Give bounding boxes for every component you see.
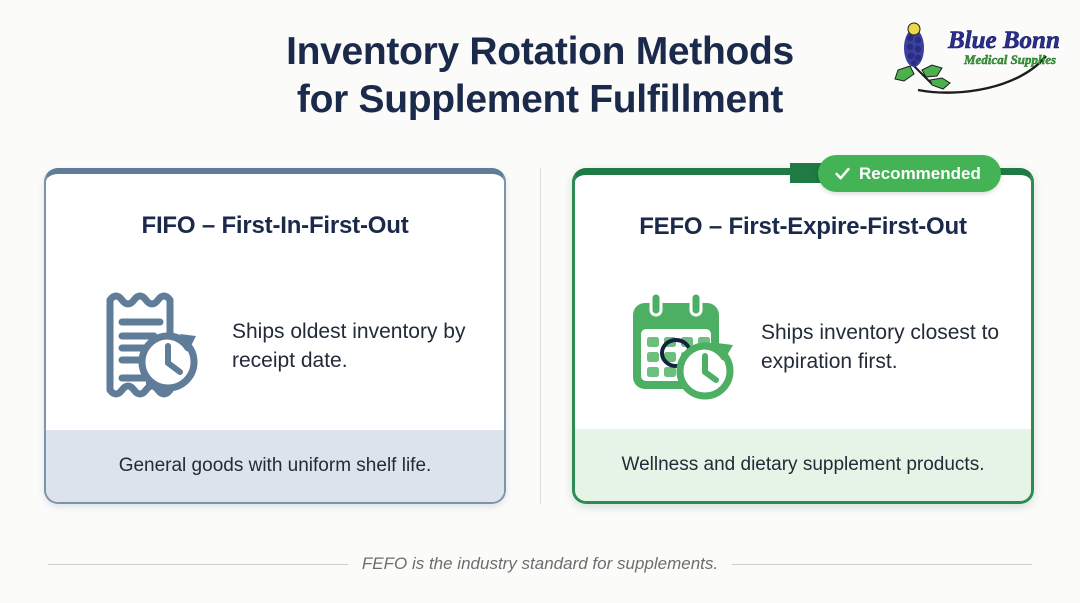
card-fifo-body: Ships oldest inventory by receipt date.	[46, 266, 504, 426]
card-fifo-title: FIFO – First-In-First-Out	[46, 212, 504, 240]
footnote-rule-left	[48, 564, 348, 565]
card-fefo-description: Ships inventory closest to expiration fi…	[761, 318, 1031, 376]
card-fefo-body: Ships inventory closest to expiration fi…	[575, 267, 1031, 427]
brand-logo: Blue Bonnet Medical Supplies	[880, 18, 1060, 98]
check-icon	[834, 165, 851, 182]
page-title-line-1: Inventory Rotation Methods	[120, 28, 960, 76]
brand-name-text: Blue Bonnet	[947, 27, 1060, 54]
recommended-badge-label: Recommended	[859, 164, 981, 184]
page-title-line-2: for Supplement Fulfillment	[120, 76, 960, 124]
card-fefo-footer: Wellness and dietary supplement products…	[575, 429, 1031, 501]
receipt-clock-icon	[92, 286, 210, 406]
card-fefo-title: FEFO – First-Expire-First-Out	[575, 213, 1031, 241]
brand-logo-graphic: Blue Bonnet Medical Supplies	[880, 18, 1060, 98]
card-divider	[540, 168, 541, 504]
recommended-badge[interactable]: Recommended	[818, 155, 1001, 192]
card-fifo-footer: General goods with uniform shelf life.	[46, 430, 504, 502]
header: Inventory Rotation Methods for Supplemen…	[0, 0, 1080, 140]
card-fifo-description: Ships oldest inventory by receipt date.	[232, 317, 504, 375]
footnote-rule-right	[732, 564, 1032, 565]
comparison-cards: FIFO – First-In-First-Out	[0, 168, 1080, 504]
calendar-clock-icon	[621, 287, 739, 407]
brand-tagline-text: Medical Supplies	[963, 52, 1056, 67]
footnote: FEFO is the industry standard for supple…	[0, 554, 1080, 574]
page-title: Inventory Rotation Methods for Supplemen…	[120, 28, 960, 124]
footnote-text: FEFO is the industry standard for supple…	[362, 554, 718, 574]
card-fefo[interactable]: FEFO – First-Expire-First-Out	[572, 168, 1034, 504]
card-fifo[interactable]: FIFO – First-In-First-Out	[44, 168, 506, 504]
